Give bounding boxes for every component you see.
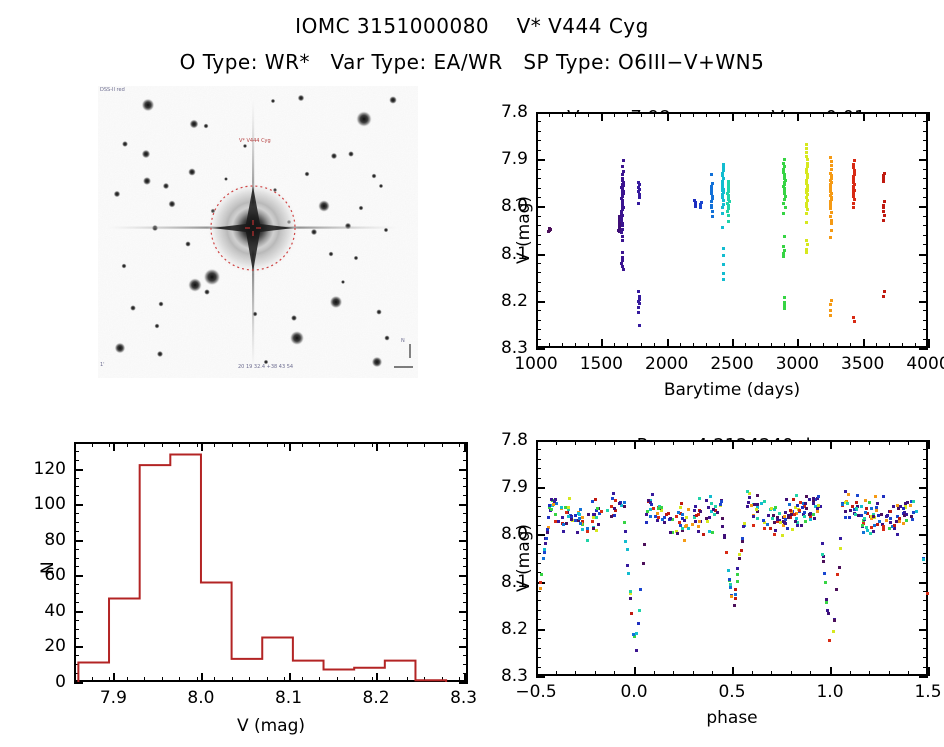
lightcurve-data-point — [830, 164, 833, 167]
lightcurve-data-point — [830, 211, 833, 214]
phase-data-point — [855, 501, 858, 504]
phase-data-point — [839, 547, 842, 550]
lightcurve-data-point — [805, 143, 808, 146]
phase-data-point — [791, 528, 794, 531]
phase-data-point — [882, 528, 885, 531]
phase-data-point — [827, 612, 830, 615]
phase-data-point — [652, 507, 655, 510]
dss-image — [98, 86, 418, 378]
phase-data-point — [826, 609, 829, 612]
phase-data-point — [565, 511, 568, 514]
phase-data-point — [880, 513, 883, 516]
phase-data-point — [796, 504, 799, 507]
lightcurve-data-point — [782, 212, 785, 215]
phase-data-point — [795, 494, 798, 497]
lightcurve-data-point — [805, 205, 808, 208]
phase-data-point — [812, 513, 815, 516]
phase-data-point — [546, 528, 549, 531]
phase-data-point — [574, 514, 577, 517]
lightcurve-points — [500, 86, 944, 396]
phase-data-point — [719, 503, 722, 506]
lightcurve-data-point — [638, 196, 641, 199]
phase-data-point — [770, 507, 773, 510]
phase-data-point — [804, 520, 807, 523]
lightcurve-data-point — [806, 158, 809, 161]
phase-data-point — [709, 495, 712, 498]
lightcurve-data-point — [805, 155, 808, 158]
lightcurve-data-point — [547, 230, 550, 233]
lightcurve-data-point — [853, 198, 856, 201]
phase-data-point — [789, 509, 792, 512]
phase-data-point — [567, 506, 570, 509]
phase-data-point — [581, 528, 584, 531]
phase-data-point — [889, 510, 892, 513]
phase-data-point — [618, 502, 621, 505]
lightcurve-data-point — [699, 206, 702, 209]
phase-data-point — [756, 510, 759, 513]
phase-data-point — [889, 521, 892, 524]
phase-data-point — [752, 524, 755, 527]
lightcurve-data-point — [621, 235, 624, 238]
lightcurve-data-point — [830, 219, 833, 222]
phase-data-point — [679, 524, 682, 527]
lightcurve-data-point — [830, 229, 833, 232]
phase-data-point — [683, 519, 686, 522]
phase-data-point — [755, 508, 758, 511]
phase-data-point — [800, 524, 803, 527]
phase-data-point — [595, 516, 598, 519]
phase-data-point — [813, 517, 816, 520]
phase-data-point — [576, 531, 579, 534]
lightcurve-data-point — [805, 151, 808, 154]
phase-data-point — [851, 505, 854, 508]
phase-data-point — [738, 553, 741, 556]
phase-data-point — [623, 505, 626, 508]
lightcurve-data-point — [726, 210, 729, 213]
phase-data-point — [548, 504, 551, 507]
phase-data-point — [898, 520, 901, 523]
phase-data-point — [832, 630, 835, 633]
phase-data-point — [698, 497, 701, 500]
phase-data-point — [565, 522, 568, 525]
phase-data-point — [543, 548, 546, 551]
lightcurve-data-point — [882, 206, 885, 209]
phase-data-point — [611, 497, 614, 500]
lightcurve-data-point — [722, 247, 725, 250]
lightcurve-data-point — [882, 180, 885, 183]
lightcurve-data-point — [853, 159, 856, 162]
phase-data-point — [687, 527, 690, 530]
lightcurve-data-point — [784, 206, 787, 209]
phase-data-point — [844, 510, 847, 513]
page-title: IOMC 3151000080 V* V444 Cyg — [0, 14, 944, 38]
phase-data-point — [539, 587, 542, 590]
phase-data-point — [870, 526, 873, 529]
phase-data-point — [779, 521, 782, 524]
phase-data-point — [685, 516, 688, 519]
phase-data-point — [578, 517, 581, 520]
lightcurve-data-point — [829, 314, 832, 317]
phase-data-point — [803, 515, 806, 518]
phase-data-point — [873, 524, 876, 527]
phase-data-point — [684, 525, 687, 528]
lightcurve-data-point — [721, 212, 724, 215]
lightcurve-data-point — [622, 268, 625, 271]
finder-coord-label: 20 19 32.4 +38 43 54 — [238, 364, 293, 370]
phase-data-point — [897, 507, 900, 510]
phase-data-point — [767, 514, 770, 517]
phase-data-point — [784, 511, 787, 514]
lightcurve-data-point — [805, 221, 808, 224]
phase-data-point — [801, 506, 804, 509]
lightcurve-data-point — [622, 159, 625, 162]
phase-data-point — [679, 506, 682, 509]
phase-data-point — [736, 573, 739, 576]
lightcurve-data-point — [805, 212, 808, 215]
phase-data-point — [586, 539, 589, 542]
phase-data-point — [694, 505, 697, 508]
phase-data-point — [702, 533, 705, 536]
phase-data-point — [627, 572, 630, 575]
lightcurve-data-point — [883, 200, 886, 203]
phase-data-point — [882, 495, 885, 498]
lightcurve-data-point — [727, 220, 730, 223]
lightcurve-data-point — [782, 255, 785, 258]
phase-data-point — [708, 530, 711, 533]
lightcurve-data-point — [621, 173, 624, 176]
phase-data-point — [623, 521, 626, 524]
phase-data-point — [825, 598, 828, 601]
lightcurve-data-point — [710, 206, 713, 209]
phase-data-point — [774, 529, 777, 532]
phase-data-point — [763, 500, 766, 503]
phase-data-point — [694, 520, 697, 523]
phase-data-point — [870, 507, 873, 510]
phase-data-point — [756, 517, 759, 520]
phase-data-point — [600, 510, 603, 513]
phase-data-point — [799, 501, 802, 504]
phase-data-point — [642, 562, 645, 565]
lightcurve-data-point — [621, 165, 624, 168]
phase-data-point — [683, 539, 686, 542]
phase-data-point — [578, 513, 581, 516]
phase-data-point — [796, 524, 799, 527]
phase-data-point — [878, 520, 881, 523]
phase-data-point — [839, 537, 842, 540]
lightcurve-data-point — [722, 254, 725, 257]
phase-data-point — [892, 505, 895, 508]
phase-data-point — [705, 499, 708, 502]
lightcurve-data-point — [637, 311, 640, 314]
phase-data-point — [663, 521, 666, 524]
phase-data-point — [864, 511, 867, 514]
phase-data-point — [872, 515, 875, 518]
phase-data-point — [825, 601, 828, 604]
phase-data-point — [543, 551, 546, 554]
lightcurve-data-point — [722, 199, 725, 202]
phase-data-point — [610, 515, 613, 518]
phase-data-point — [591, 520, 594, 523]
phase-data-point — [817, 495, 820, 498]
phase-data-point — [756, 494, 759, 497]
phase-data-point — [736, 567, 739, 570]
lightcurve-data-point — [829, 156, 832, 159]
phase-data-point — [846, 502, 849, 505]
phase-data-point — [669, 517, 672, 520]
phase-data-point — [848, 516, 851, 519]
lightcurve-data-point — [829, 207, 832, 210]
phase-data-point — [635, 649, 638, 652]
lightcurve-data-point — [883, 214, 886, 217]
phase-data-point — [882, 525, 885, 528]
phase-data-point — [552, 503, 555, 506]
phase-data-point — [651, 493, 654, 496]
iomc-summary-page: IOMC 3151000080 V* V444 Cyg O Type: WR* … — [0, 0, 944, 747]
phase-data-point — [854, 513, 857, 516]
phase-data-point — [741, 540, 744, 543]
phase-data-point — [804, 502, 807, 505]
phase-data-point — [638, 609, 641, 612]
phase-data-point — [909, 504, 912, 507]
lightcurve-data-point — [722, 272, 725, 275]
phase-data-point — [691, 523, 694, 526]
lightcurve-data-point — [620, 231, 623, 234]
phase-data-point — [645, 521, 648, 524]
phase-data-point — [803, 511, 806, 514]
phase-data-point — [847, 493, 850, 496]
finder-survey-label: DSS-II red — [100, 87, 125, 93]
phase-data-point — [729, 586, 732, 589]
phase-data-point — [792, 498, 795, 501]
phase-data-point — [725, 551, 728, 554]
phase-data-point — [547, 516, 550, 519]
phase-data-point — [705, 517, 708, 520]
phase-data-point — [645, 513, 648, 516]
phase-data-point — [594, 498, 597, 501]
phase-data-point — [849, 509, 852, 512]
phase-data-point — [865, 507, 868, 510]
phase-data-point — [861, 524, 864, 527]
lightcurve-data-point — [806, 243, 809, 246]
phase-data-point — [895, 520, 898, 523]
lightcurve-data-point — [883, 290, 886, 293]
lightcurve-data-point — [805, 239, 808, 242]
phase-data-point — [795, 517, 798, 520]
phase-data-point — [695, 514, 698, 517]
phase-data-point — [723, 534, 726, 537]
phase-data-point — [708, 516, 711, 519]
phase-data-point — [805, 495, 808, 498]
phase-data-point — [710, 502, 713, 505]
phase-data-point — [783, 515, 786, 518]
phase-data-point — [711, 531, 714, 534]
phase-data-point — [667, 512, 670, 515]
phase-data-point — [697, 525, 700, 528]
phase-data-point — [716, 511, 719, 514]
phase-data-point — [675, 515, 678, 518]
phase-data-point — [822, 555, 825, 558]
phase-data-point — [885, 519, 888, 522]
phase-data-point — [738, 557, 741, 560]
phase-data-point — [728, 578, 731, 581]
lightcurve-data-point — [638, 324, 641, 327]
phase-data-point — [902, 507, 905, 510]
phase-data-point — [632, 633, 635, 636]
lightcurve-data-point — [722, 203, 725, 206]
phase-data-point — [844, 516, 847, 519]
phase-data-point — [630, 612, 633, 615]
phase-data-point — [866, 529, 869, 532]
phase-data-point — [763, 527, 766, 530]
lightcurve-data-point — [852, 206, 855, 209]
phase-data-point — [635, 632, 638, 635]
phase-data-point — [626, 564, 629, 567]
lightcurve-panel: Vmed = 7.98 mag <err_V> = 0.01 mag V (ma… — [500, 86, 944, 396]
phase-data-point — [874, 495, 877, 498]
finder-orientation-label: N — [401, 338, 405, 344]
lightcurve-data-point — [830, 160, 833, 163]
phase-data-point — [560, 506, 563, 509]
phase-data-point — [546, 531, 549, 534]
phase-data-point — [778, 512, 781, 515]
dss-image-svg — [98, 86, 418, 378]
phase-data-point — [687, 508, 690, 511]
phase-data-point — [828, 639, 831, 642]
phase-data-point — [660, 506, 663, 509]
phase-data-point — [554, 520, 557, 523]
phase-data-point — [720, 500, 723, 503]
lightcurve-data-point — [621, 224, 624, 227]
phase-data-point — [785, 498, 788, 501]
phase-data-point — [643, 543, 646, 546]
phase-data-point — [610, 505, 613, 508]
phase-panel: PVSX = 4.2124240 days V (mag) phase −0.5… — [500, 414, 944, 740]
phase-data-point — [681, 529, 684, 532]
phase-data-point — [568, 497, 571, 500]
phase-data-point — [774, 506, 777, 509]
lightcurve-data-point — [694, 205, 697, 208]
phase-data-point — [809, 515, 812, 518]
phase-data-point — [637, 622, 640, 625]
phase-data-point — [875, 509, 878, 512]
phase-data-point — [680, 502, 683, 505]
phase-data-point — [654, 515, 657, 518]
phase-data-point — [912, 500, 915, 503]
phase-data-point — [574, 519, 577, 522]
phase-data-point — [624, 540, 627, 543]
phase-data-point — [922, 558, 925, 561]
phase-data-point — [753, 503, 756, 506]
lightcurve-data-point — [805, 251, 808, 254]
phase-data-point — [592, 527, 595, 530]
phase-data-point — [693, 509, 696, 512]
phase-data-point — [822, 560, 825, 563]
phase-data-point — [721, 525, 724, 528]
phase-data-point — [893, 524, 896, 527]
phase-data-point — [821, 542, 824, 545]
lightcurve-data-point — [637, 202, 640, 205]
phase-data-point — [857, 514, 860, 517]
lightcurve-data-point — [783, 158, 786, 161]
histogram-panel: N V (mag) 7.98.08.18.28.3020406080100120 — [16, 430, 486, 740]
phase-data-point — [727, 569, 730, 572]
phase-points — [500, 414, 944, 740]
phase-data-point — [769, 527, 772, 530]
phase-data-point — [649, 508, 652, 511]
phase-data-point — [905, 513, 908, 516]
phase-data-point — [550, 508, 553, 511]
phase-data-point — [677, 511, 680, 514]
lightcurve-data-point — [722, 278, 725, 281]
phase-data-point — [862, 531, 865, 534]
lightcurve-data-point — [829, 303, 832, 306]
phase-data-point — [612, 492, 615, 495]
lightcurve-data-point — [782, 245, 785, 248]
phase-data-point — [812, 502, 815, 505]
phase-data-point — [614, 499, 617, 502]
phase-data-point — [784, 522, 787, 525]
lightcurve-data-point — [710, 200, 713, 203]
phase-data-point — [772, 514, 775, 517]
phase-data-point — [756, 503, 759, 506]
phase-data-point — [902, 522, 905, 525]
phase-data-point — [821, 553, 824, 556]
phase-data-point — [613, 514, 616, 517]
phase-data-point — [734, 597, 737, 600]
lightcurve-data-point — [637, 290, 640, 293]
lightcurve-data-point — [711, 210, 714, 213]
phase-data-point — [596, 507, 599, 510]
lightcurve-data-point — [852, 316, 855, 319]
phase-data-point — [876, 502, 879, 505]
phase-data-point — [629, 590, 632, 593]
phase-data-point — [805, 507, 808, 510]
phase-data-point — [868, 501, 871, 504]
lightcurve-data-point — [710, 173, 713, 176]
lightcurve-data-point — [829, 236, 832, 239]
phase-data-point — [836, 573, 839, 576]
phase-data-point — [606, 509, 609, 512]
lightcurve-data-point — [829, 309, 832, 312]
phase-data-point — [766, 523, 769, 526]
phase-data-point — [542, 557, 545, 560]
phase-data-point — [876, 523, 879, 526]
phase-data-point — [734, 588, 737, 591]
lightcurve-data-point — [830, 168, 833, 171]
phase-data-point — [926, 592, 929, 595]
phase-data-point — [586, 530, 589, 533]
phase-data-point — [748, 496, 751, 499]
lightcurve-data-point — [853, 320, 856, 323]
lightcurve-data-point — [721, 206, 724, 209]
phase-data-point — [905, 519, 908, 522]
phase-data-point — [663, 516, 666, 519]
phase-data-point — [781, 534, 784, 537]
lightcurve-data-point — [637, 306, 640, 309]
lightcurve-data-point — [722, 263, 725, 266]
histogram-outline — [78, 454, 446, 682]
phase-data-point — [736, 580, 739, 583]
lightcurve-data-point — [622, 170, 625, 173]
phase-data-point — [896, 533, 899, 536]
phase-data-point — [889, 517, 892, 520]
phase-data-point — [697, 530, 700, 533]
phase-data-point — [743, 522, 746, 525]
phase-data-point — [872, 530, 875, 533]
finder-scale-label: 1' — [100, 362, 105, 368]
phase-data-point — [817, 504, 820, 507]
phase-data-point — [823, 572, 826, 575]
